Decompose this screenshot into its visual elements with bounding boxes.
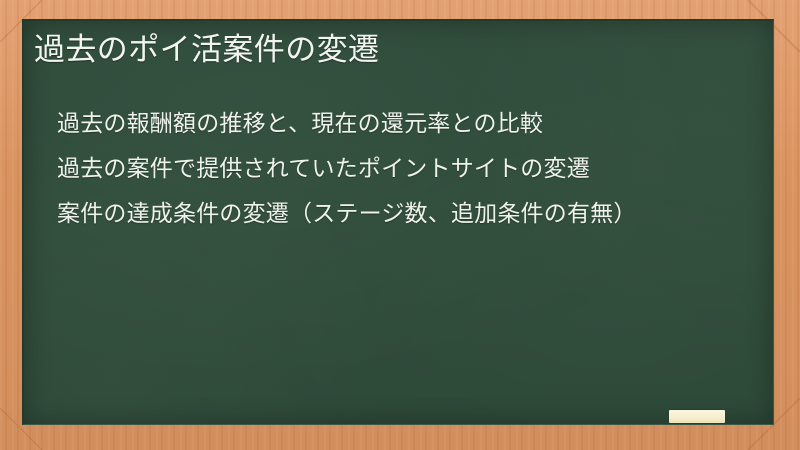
list-item: 過去の報酬額の推移と、現在の還元率との比較 (57, 107, 741, 139)
chalkboard-slide: 過去のポイ活案件の変遷 過去の報酬額の推移と、現在の還元率との比較 過去の案件で… (0, 0, 800, 450)
page-title: 過去のポイ活案件の変遷 (34, 31, 759, 70)
chalk-stick-icon (669, 410, 725, 423)
chalkboard-surface: 過去のポイ活案件の変遷 過去の報酬額の推移と、現在の還元率との比較 過去の案件で… (22, 19, 774, 425)
list-item: 過去の案件で提供されていたポイントサイトの変遷 (57, 152, 741, 184)
list-item: 案件の達成条件の変遷（ステージ数、追加条件の有無） (57, 197, 741, 229)
bullet-list: 過去の報酬額の推移と、現在の還元率との比較 過去の案件で提供されていたポイントサ… (57, 107, 741, 230)
